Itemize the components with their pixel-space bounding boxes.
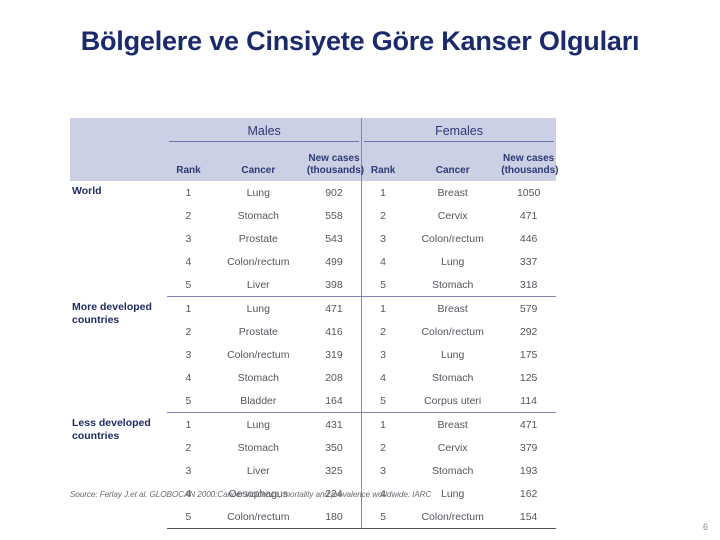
females-cancer: Stomach [404,459,501,482]
males-cancer: Liver [210,273,307,297]
females-rank-header: Rank [362,142,405,181]
males-cases: 499 [307,250,362,273]
region-label-world: World [70,181,167,297]
table-row: World 1 Lung 902 1 Breast 1050 [70,181,556,204]
females-cases: 337 [501,250,556,273]
males-rank: 2 [167,320,210,343]
males-cases: 471 [307,297,362,321]
males-cases: 325 [307,459,362,482]
females-rank: 5 [362,389,405,413]
females-cases: 292 [501,320,556,343]
males-cases: 398 [307,273,362,297]
region-label-world-line1: World [72,185,102,197]
females-cases: 471 [501,204,556,227]
page-number: 6 [703,522,708,532]
table-group-header-row: Males Females [70,118,556,142]
males-cancer: Lung [210,181,307,204]
females-cancer: Lung [404,343,501,366]
males-new-cases-header-line2: (thousands) [307,165,361,177]
females-cancer: Breast [404,297,501,321]
males-cancer: Prostate [210,320,307,343]
region-subheader [70,142,167,181]
females-rank: 3 [362,343,405,366]
females-new-cases-header-line2: (thousands) [501,165,556,177]
table-subheader-row: Rank Cancer New cases (thousands) Rank C… [70,142,556,181]
males-cancer: Colon/rectum [210,505,307,529]
region-label-more-developed-line2: countries [72,314,119,326]
table-row: More developed countries 1 Lung 471 1 Br… [70,297,556,321]
males-rank: 1 [167,413,210,437]
males-rank-header: Rank [167,142,210,181]
males-rank: 2 [167,436,210,459]
females-cancer: Stomach [404,273,501,297]
group-header-females: Females [362,118,556,142]
table-body: World 1 Lung 902 1 Breast 1050 2 Stomach… [70,181,556,529]
males-cancer: Prostate [210,227,307,250]
males-rank: 3 [167,227,210,250]
males-cancer: Lung [210,297,307,321]
females-rank: 4 [362,250,405,273]
males-cancer: Lung [210,413,307,437]
females-rank: 1 [362,181,405,204]
males-cases: 164 [307,389,362,413]
males-rank: 3 [167,459,210,482]
females-cancer: Colon/rectum [404,505,501,529]
males-rank: 3 [167,343,210,366]
males-rank: 4 [167,250,210,273]
females-rank: 2 [362,436,405,459]
males-rank: 4 [167,366,210,389]
males-cancer: Stomach [210,204,307,227]
females-rank: 5 [362,505,405,529]
males-cases: 431 [307,413,362,437]
cancer-cases-table-wrapper: Males Females Rank Cancer New cases (tho… [70,118,556,529]
males-rank: 2 [167,204,210,227]
females-new-cases-header: New cases (thousands) [501,142,556,181]
females-cancer: Cervix [404,436,501,459]
males-rank: 1 [167,181,210,204]
females-cases: 379 [501,436,556,459]
females-cases: 114 [501,389,556,413]
females-cancer: Colon/rectum [404,227,501,250]
males-cases: 180 [307,505,362,529]
males-cases: 543 [307,227,362,250]
table-row: Less developed countries 1 Lung 431 1 Br… [70,413,556,437]
males-rank: 5 [167,273,210,297]
region-label-more-developed-line1: More developed [72,301,152,313]
males-cancer: Colon/rectum [210,343,307,366]
males-cancer: Bladder [210,389,307,413]
females-rank: 3 [362,227,405,250]
males-rank: 5 [167,505,210,529]
females-cases: 471 [501,413,556,437]
females-cases: 154 [501,505,556,529]
source-note: Source: Ferlay J.et al. GLOBOCAN 2000:Ca… [70,490,431,499]
group-header-males-label: Males [169,124,359,142]
females-rank: 4 [362,366,405,389]
page-title: Bölgelere ve Cinsiyete Göre Kanser Olgul… [0,26,720,57]
females-rank: 2 [362,320,405,343]
males-cancer: Liver [210,459,307,482]
males-cases: 319 [307,343,362,366]
females-cancer-header: Cancer [404,142,501,181]
females-rank: 2 [362,204,405,227]
females-rank: 1 [362,297,405,321]
females-new-cases-header-line1: New cases [501,153,556,165]
females-cancer: Breast [404,413,501,437]
males-rank: 5 [167,389,210,413]
region-label-less-developed-countries: Less developed countries [70,413,167,529]
females-cases: 175 [501,343,556,366]
females-cases: 446 [501,227,556,250]
females-cases: 318 [501,273,556,297]
females-cancer: Corpus uteri [404,389,501,413]
females-cases: 162 [501,482,556,505]
males-rank: 1 [167,297,210,321]
males-cases: 350 [307,436,362,459]
females-rank: 5 [362,273,405,297]
region-label-less-developed-line1: Less developed [72,417,151,429]
group-header-males: Males [167,118,361,142]
males-new-cases-header-line1: New cases [307,153,361,165]
females-cases: 579 [501,297,556,321]
males-cancer: Stomach [210,436,307,459]
males-cases: 902 [307,181,362,204]
males-cases: 416 [307,320,362,343]
females-cases: 125 [501,366,556,389]
males-cases: 558 [307,204,362,227]
females-cases: 1050 [501,181,556,204]
region-label-less-developed-line2: countries [72,430,119,442]
males-cancer: Stomach [210,366,307,389]
group-header-females-label: Females [364,124,554,142]
region-column-header [70,118,167,142]
females-rank: 1 [362,413,405,437]
males-cases: 208 [307,366,362,389]
males-new-cases-header: New cases (thousands) [307,142,362,181]
females-cancer: Cervix [404,204,501,227]
females-rank: 3 [362,459,405,482]
table-header: Males Females Rank Cancer New cases (tho… [70,118,556,181]
females-cases: 193 [501,459,556,482]
females-cancer: Colon/rectum [404,320,501,343]
females-cancer: Lung [404,250,501,273]
females-cancer: Stomach [404,366,501,389]
region-label-more-developed-countries: More developed countries [70,297,167,413]
males-cancer-header: Cancer [210,142,307,181]
males-cancer: Colon/rectum [210,250,307,273]
females-cancer: Breast [404,181,501,204]
cancer-cases-table: Males Females Rank Cancer New cases (tho… [70,118,556,529]
